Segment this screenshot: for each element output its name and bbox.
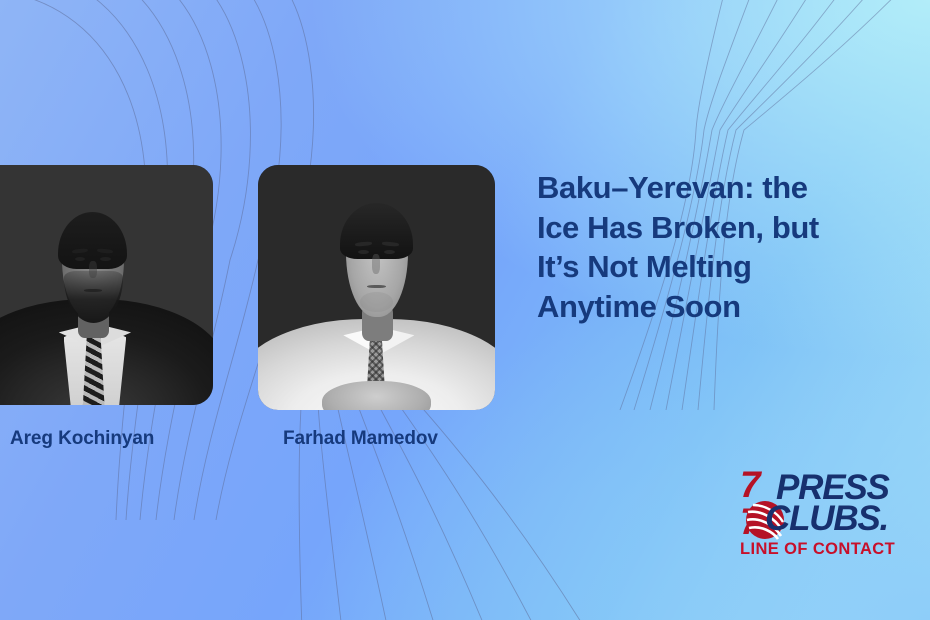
slide-canvas: Areg Kochinyan Farhad Mamedov Baku–Yerev… xyxy=(0,0,930,620)
headline-line-1: Baku–Yerevan: the xyxy=(537,168,930,208)
logo-word-clubs: CLUBS. xyxy=(765,501,888,536)
headline: Baku–Yerevan: the Ice Has Broken, but It… xyxy=(537,168,930,327)
headline-line-4: Anytime Soon xyxy=(537,287,930,327)
speaker-photo-right xyxy=(258,165,495,410)
speaker-card-right xyxy=(258,165,495,410)
headline-line-2: Ice Has Broken, but xyxy=(537,208,930,248)
speaker-card-left xyxy=(0,165,213,405)
speaker-name-right: Farhad Mamedov xyxy=(283,428,438,450)
headline-line-3: It’s Not Melting xyxy=(537,247,930,287)
speaker-name-left: Areg Kochinyan xyxy=(10,428,154,450)
speaker-photo-left xyxy=(0,165,213,405)
logo-tagline: LINE OF CONTACT xyxy=(740,540,930,559)
press-clubs-logo: PRESS CLUBS. 7 7 LINE OF CONTACT xyxy=(740,466,930,561)
